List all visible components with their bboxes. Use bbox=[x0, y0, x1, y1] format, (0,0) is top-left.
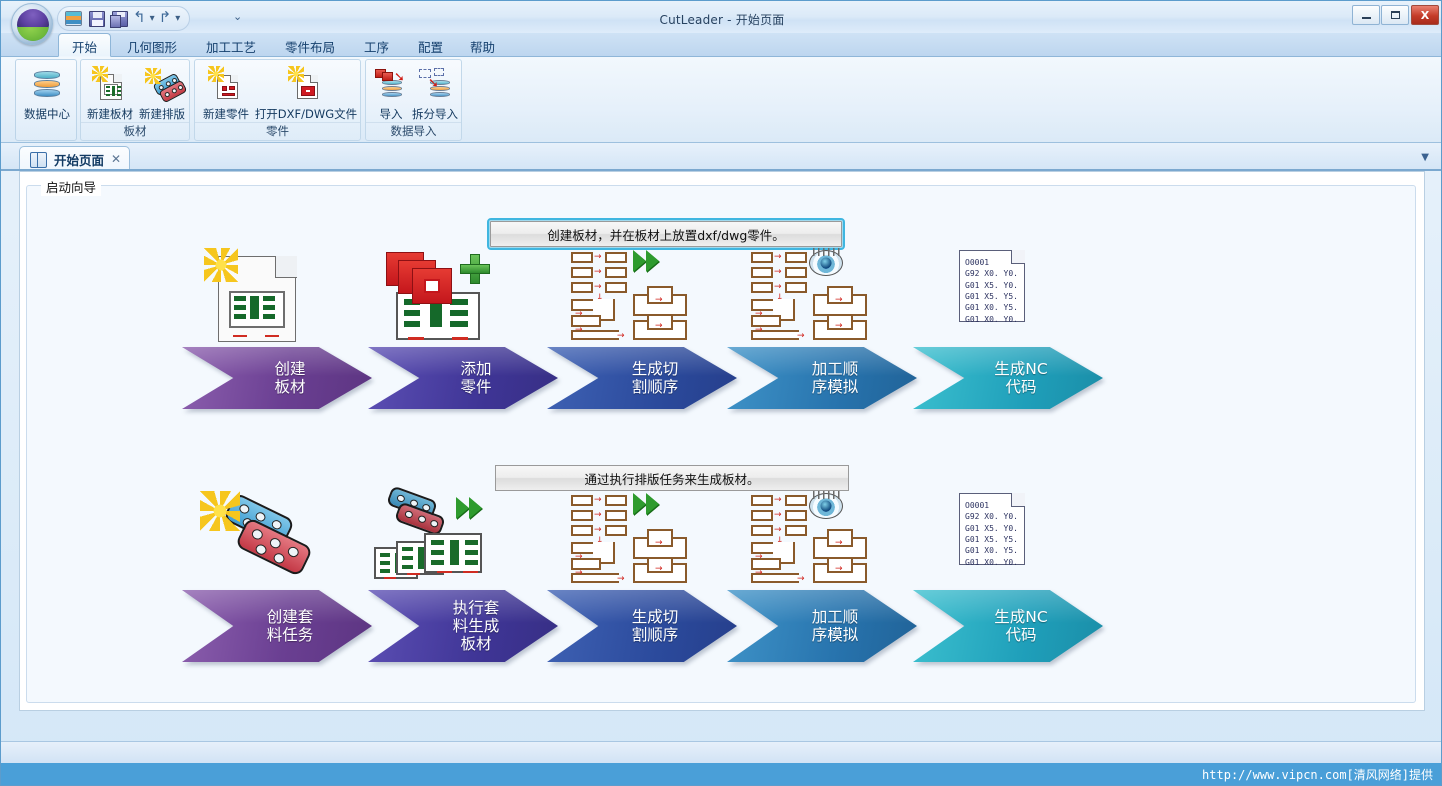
database-stack-icon bbox=[30, 68, 64, 102]
fast-forward-icon bbox=[629, 493, 663, 515]
step-arrow[interactable]: 生成切 割顺序 bbox=[547, 590, 737, 662]
nc-code-doc-icon: O0001 G92 X0. Y0. G01 X5. Y0. G01 X5. Y5… bbox=[913, 248, 1103, 343]
nc-line: G01 X0. Y5. bbox=[965, 302, 1024, 313]
footer-watermark: http://www.vipcn.com[清风网络]提供 bbox=[1, 763, 1442, 785]
document-tab-start-page[interactable]: 开始页面 ✕ bbox=[19, 146, 130, 171]
step-simulation[interactable]: → → → ↓ → → → → bbox=[727, 248, 917, 409]
undo-button[interactable]: ↰ bbox=[133, 10, 146, 25]
step-arrow[interactable]: 执行套 料生成 板材 bbox=[368, 590, 558, 662]
ribbon-button-new-nesting[interactable]: 新建排版 bbox=[135, 64, 189, 124]
ribbon-button-new-plate[interactable]: 新建板材 bbox=[83, 64, 137, 124]
step-arrow[interactable]: 添加 零件 bbox=[368, 347, 558, 409]
spark-icon bbox=[204, 248, 238, 282]
step-arrow[interactable]: 创建套 料任务 bbox=[182, 590, 372, 662]
document-tab-label: 开始页面 bbox=[54, 150, 104, 169]
step-cut-sequence-2[interactable]: → → → ↓ → → → → bbox=[547, 491, 737, 662]
step-label-line1: 生成切 bbox=[632, 608, 679, 626]
app-logo-icon bbox=[17, 9, 49, 41]
ribbon-button-split-import[interactable]: ➘ 拆分导入 bbox=[410, 64, 460, 124]
step-label-line3: 板材 bbox=[453, 635, 500, 653]
step-label-line1: 执行套 bbox=[453, 599, 500, 617]
app-window: CutLeader - 开始页面 X ↰ ▾ ↱ ▾ ⌄ 开始 几何图形 bbox=[0, 0, 1442, 786]
open-dxf-dwg-icon bbox=[289, 68, 323, 102]
step-label-line2: 板材 bbox=[274, 378, 305, 396]
step-label-line2: 序模拟 bbox=[812, 378, 859, 396]
step-label-line1: 加工顺 bbox=[812, 360, 859, 378]
nc-line: G92 X0. Y0. bbox=[965, 268, 1024, 279]
step-generate-nc-2[interactable]: O0001 G92 X0. Y0. G01 X5. Y0. G01 X5. Y5… bbox=[913, 491, 1103, 662]
step-cut-sequence[interactable]: → → → ↓ → → → → bbox=[547, 248, 737, 409]
tab-layout[interactable]: 零件布局 bbox=[272, 33, 348, 57]
step-simulation-2[interactable]: → → → ↓ → → → → bbox=[727, 491, 917, 662]
step-label-line2: 割顺序 bbox=[632, 378, 679, 396]
document-tab-strip: 开始页面 ✕ ▼ bbox=[1, 143, 1442, 171]
tab-help[interactable]: 帮助 bbox=[457, 33, 508, 57]
chevron-down-icon[interactable]: ▼ bbox=[1421, 152, 1429, 163]
step-arrow[interactable]: 加工顺 序模拟 bbox=[727, 590, 917, 662]
step-label-line2: 料任务 bbox=[267, 626, 314, 644]
step-generate-nc[interactable]: O0001 G92 X0. Y0. G01 X5. Y0. G01 X5. Y5… bbox=[913, 248, 1103, 409]
simulation-eye-icon: → → → ↓ → → → → bbox=[727, 491, 917, 586]
step-arrow[interactable]: 生成NC 代码 bbox=[913, 590, 1103, 662]
status-bar bbox=[1, 741, 1442, 763]
nc-line: G01 X5. Y5. bbox=[965, 291, 1024, 302]
step-arrow[interactable]: 加工顺 序模拟 bbox=[727, 347, 917, 409]
spark-icon bbox=[200, 491, 240, 531]
ribbon-group-label: 数据导入 bbox=[366, 123, 461, 139]
step-create-plate[interactable]: 创建 板材 bbox=[182, 248, 372, 409]
step-label-line2: 代码 bbox=[994, 378, 1047, 396]
undo-dropdown-icon[interactable]: ▾ bbox=[149, 13, 156, 24]
cut-sequence-icon: → → → ↓ → → → → bbox=[547, 491, 737, 586]
ribbon-group-data-import: ➘ 导入 ➘ 拆分导入 数据导入 bbox=[365, 59, 462, 141]
save-as-icon bbox=[112, 11, 128, 27]
ribbon-button-open-dxf-dwg[interactable]: 打开DXF/DWG文件 bbox=[253, 64, 359, 124]
fast-forward-icon bbox=[452, 497, 486, 519]
nc-line: G01 X5. Y0. bbox=[965, 523, 1024, 534]
step-label-line1: 生成NC bbox=[994, 608, 1047, 626]
step-label-line1: 加工顺 bbox=[812, 608, 859, 626]
ribbon-group-plate: 新建板材 新建排版 板材 bbox=[80, 59, 190, 141]
application-menu-button[interactable] bbox=[11, 3, 53, 45]
step-label-line2: 料生成 bbox=[453, 617, 500, 635]
startup-wizard-panel: 启动向导 创建板材，并在板材上放置dxf/dwg零件。 bbox=[26, 185, 1416, 703]
maximize-icon bbox=[1391, 11, 1400, 19]
new-plate-doc-icon bbox=[182, 248, 372, 343]
step-label-line1: 生成切 bbox=[632, 360, 679, 378]
new-part-icon bbox=[209, 68, 243, 102]
close-button[interactable]: X bbox=[1411, 5, 1439, 25]
ribbon-group-label: 零件 bbox=[195, 123, 360, 139]
new-plate-icon bbox=[93, 68, 127, 102]
redo-dropdown-icon[interactable]: ▾ bbox=[174, 13, 181, 24]
spark-icon bbox=[208, 66, 224, 82]
ribbon-button-new-part[interactable]: 新建零件 bbox=[197, 64, 255, 124]
tab-process[interactable]: 加工工艺 bbox=[193, 33, 269, 57]
row2-banner[interactable]: 通过执行排版任务来生成板材。 bbox=[495, 465, 849, 491]
ribbon: 数据中心 新建板材 bbox=[1, 57, 1442, 143]
book-icon bbox=[30, 152, 47, 166]
customize-qat-icon[interactable]: ⌄ bbox=[233, 10, 242, 23]
simulation-eye-icon: → → → ↓ → → → → bbox=[727, 248, 917, 343]
nc-line: O0001 bbox=[965, 257, 1024, 268]
import-icon: ➘ bbox=[374, 68, 408, 102]
close-icon[interactable]: ✕ bbox=[111, 152, 121, 166]
ribbon-button-data-center[interactable]: 数据中心 bbox=[16, 64, 78, 124]
ribbon-group-part: 新建零件 打开DXF/DWG文件 零件 bbox=[194, 59, 361, 141]
ribbon-tab-strip: 开始 几何图形 加工工艺 零件布局 工序 配置 帮助 bbox=[1, 33, 1442, 57]
plus-icon bbox=[460, 254, 490, 284]
nesting-task-icon bbox=[182, 491, 372, 586]
spark-icon bbox=[145, 68, 161, 84]
tab-start[interactable]: 开始 bbox=[58, 33, 111, 57]
step-label-line2: 代码 bbox=[994, 626, 1047, 644]
window-title: CutLeader - 开始页面 bbox=[1, 11, 1442, 28]
cut-sequence-icon: → → → ↓ → → → → bbox=[547, 248, 737, 343]
spark-icon bbox=[92, 66, 108, 82]
step-label-line2: 序模拟 bbox=[812, 626, 859, 644]
split-import-icon: ➘ bbox=[418, 68, 452, 102]
save-quick-button[interactable] bbox=[87, 9, 107, 28]
step-create-nesting-task[interactable]: 创建套 料任务 bbox=[182, 491, 372, 662]
row1-banner[interactable]: 创建板材，并在板材上放置dxf/dwg零件。 bbox=[490, 221, 842, 247]
data-center-quick-button[interactable] bbox=[64, 9, 84, 28]
nc-line: O0001 bbox=[965, 500, 1024, 511]
minimize-icon bbox=[1362, 17, 1371, 19]
ribbon-button-label: 数据中心 bbox=[24, 106, 70, 124]
ribbon-group-data-center: 数据中心 bbox=[15, 59, 77, 141]
step-label-line1: 生成NC bbox=[994, 360, 1047, 378]
step-add-parts[interactable]: 添加 零件 bbox=[368, 248, 558, 409]
eye-icon bbox=[809, 250, 843, 276]
step-arrow[interactable]: 生成NC 代码 bbox=[913, 347, 1103, 409]
spark-icon bbox=[288, 66, 304, 82]
nc-line: G01 X5. Y0. bbox=[965, 280, 1024, 291]
add-parts-icon bbox=[368, 248, 558, 343]
tab-geometry[interactable]: 几何图形 bbox=[114, 33, 190, 57]
nc-line: G01 X5. Y5. bbox=[965, 534, 1024, 545]
step-label-line1: 创建套 bbox=[267, 608, 314, 626]
save-icon bbox=[89, 11, 105, 27]
nc-line: G01 X0. Y5. bbox=[965, 545, 1024, 556]
save-as-quick-button[interactable] bbox=[110, 9, 130, 28]
fast-forward-icon bbox=[629, 250, 663, 272]
step-label-line2: 零件 bbox=[460, 378, 491, 396]
nc-line: G01 X0. Y0. bbox=[965, 314, 1024, 325]
nc-code-doc-icon: O0001 G92 X0. Y0. G01 X5. Y0. G01 X5. Y5… bbox=[913, 491, 1103, 586]
nc-line: G92 X0. Y0. bbox=[965, 511, 1024, 522]
redo-button[interactable]: ↱ bbox=[159, 10, 172, 25]
content-area: 启动向导 创建板材，并在板材上放置dxf/dwg零件。 bbox=[19, 171, 1425, 711]
nc-line: G01 X0. Y0. bbox=[965, 557, 1024, 568]
step-label-line1: 添加 bbox=[460, 360, 491, 378]
step-arrow[interactable]: 生成切 割顺序 bbox=[547, 347, 737, 409]
close-icon: X bbox=[1421, 9, 1429, 22]
eye-icon bbox=[809, 493, 843, 519]
quick-access-toolbar: ↰ ▾ ↱ ▾ bbox=[57, 6, 190, 31]
step-label-line1: 创建 bbox=[274, 360, 305, 378]
step-run-nesting[interactable]: 执行套 料生成 板材 bbox=[368, 491, 558, 662]
tab-config[interactable]: 配置 bbox=[405, 33, 456, 57]
new-nesting-icon bbox=[145, 68, 179, 102]
minimize-button[interactable] bbox=[1352, 5, 1380, 25]
stack-icon bbox=[65, 11, 82, 26]
ribbon-group-label: 板材 bbox=[81, 123, 189, 139]
maximize-button[interactable] bbox=[1381, 5, 1409, 25]
footer-text: http://www.vipcn.com[清风网络]提供 bbox=[1202, 766, 1433, 783]
step-label-line2: 割顺序 bbox=[632, 626, 679, 644]
title-bar: CutLeader - 开始页面 X bbox=[1, 1, 1442, 37]
ribbon-button-import[interactable]: ➘ 导入 bbox=[368, 64, 414, 124]
step-arrow[interactable]: 创建 板材 bbox=[182, 347, 372, 409]
run-nesting-icon bbox=[368, 491, 558, 586]
wizard-legend: 启动向导 bbox=[41, 177, 101, 196]
tab-sequence[interactable]: 工序 bbox=[351, 33, 402, 57]
